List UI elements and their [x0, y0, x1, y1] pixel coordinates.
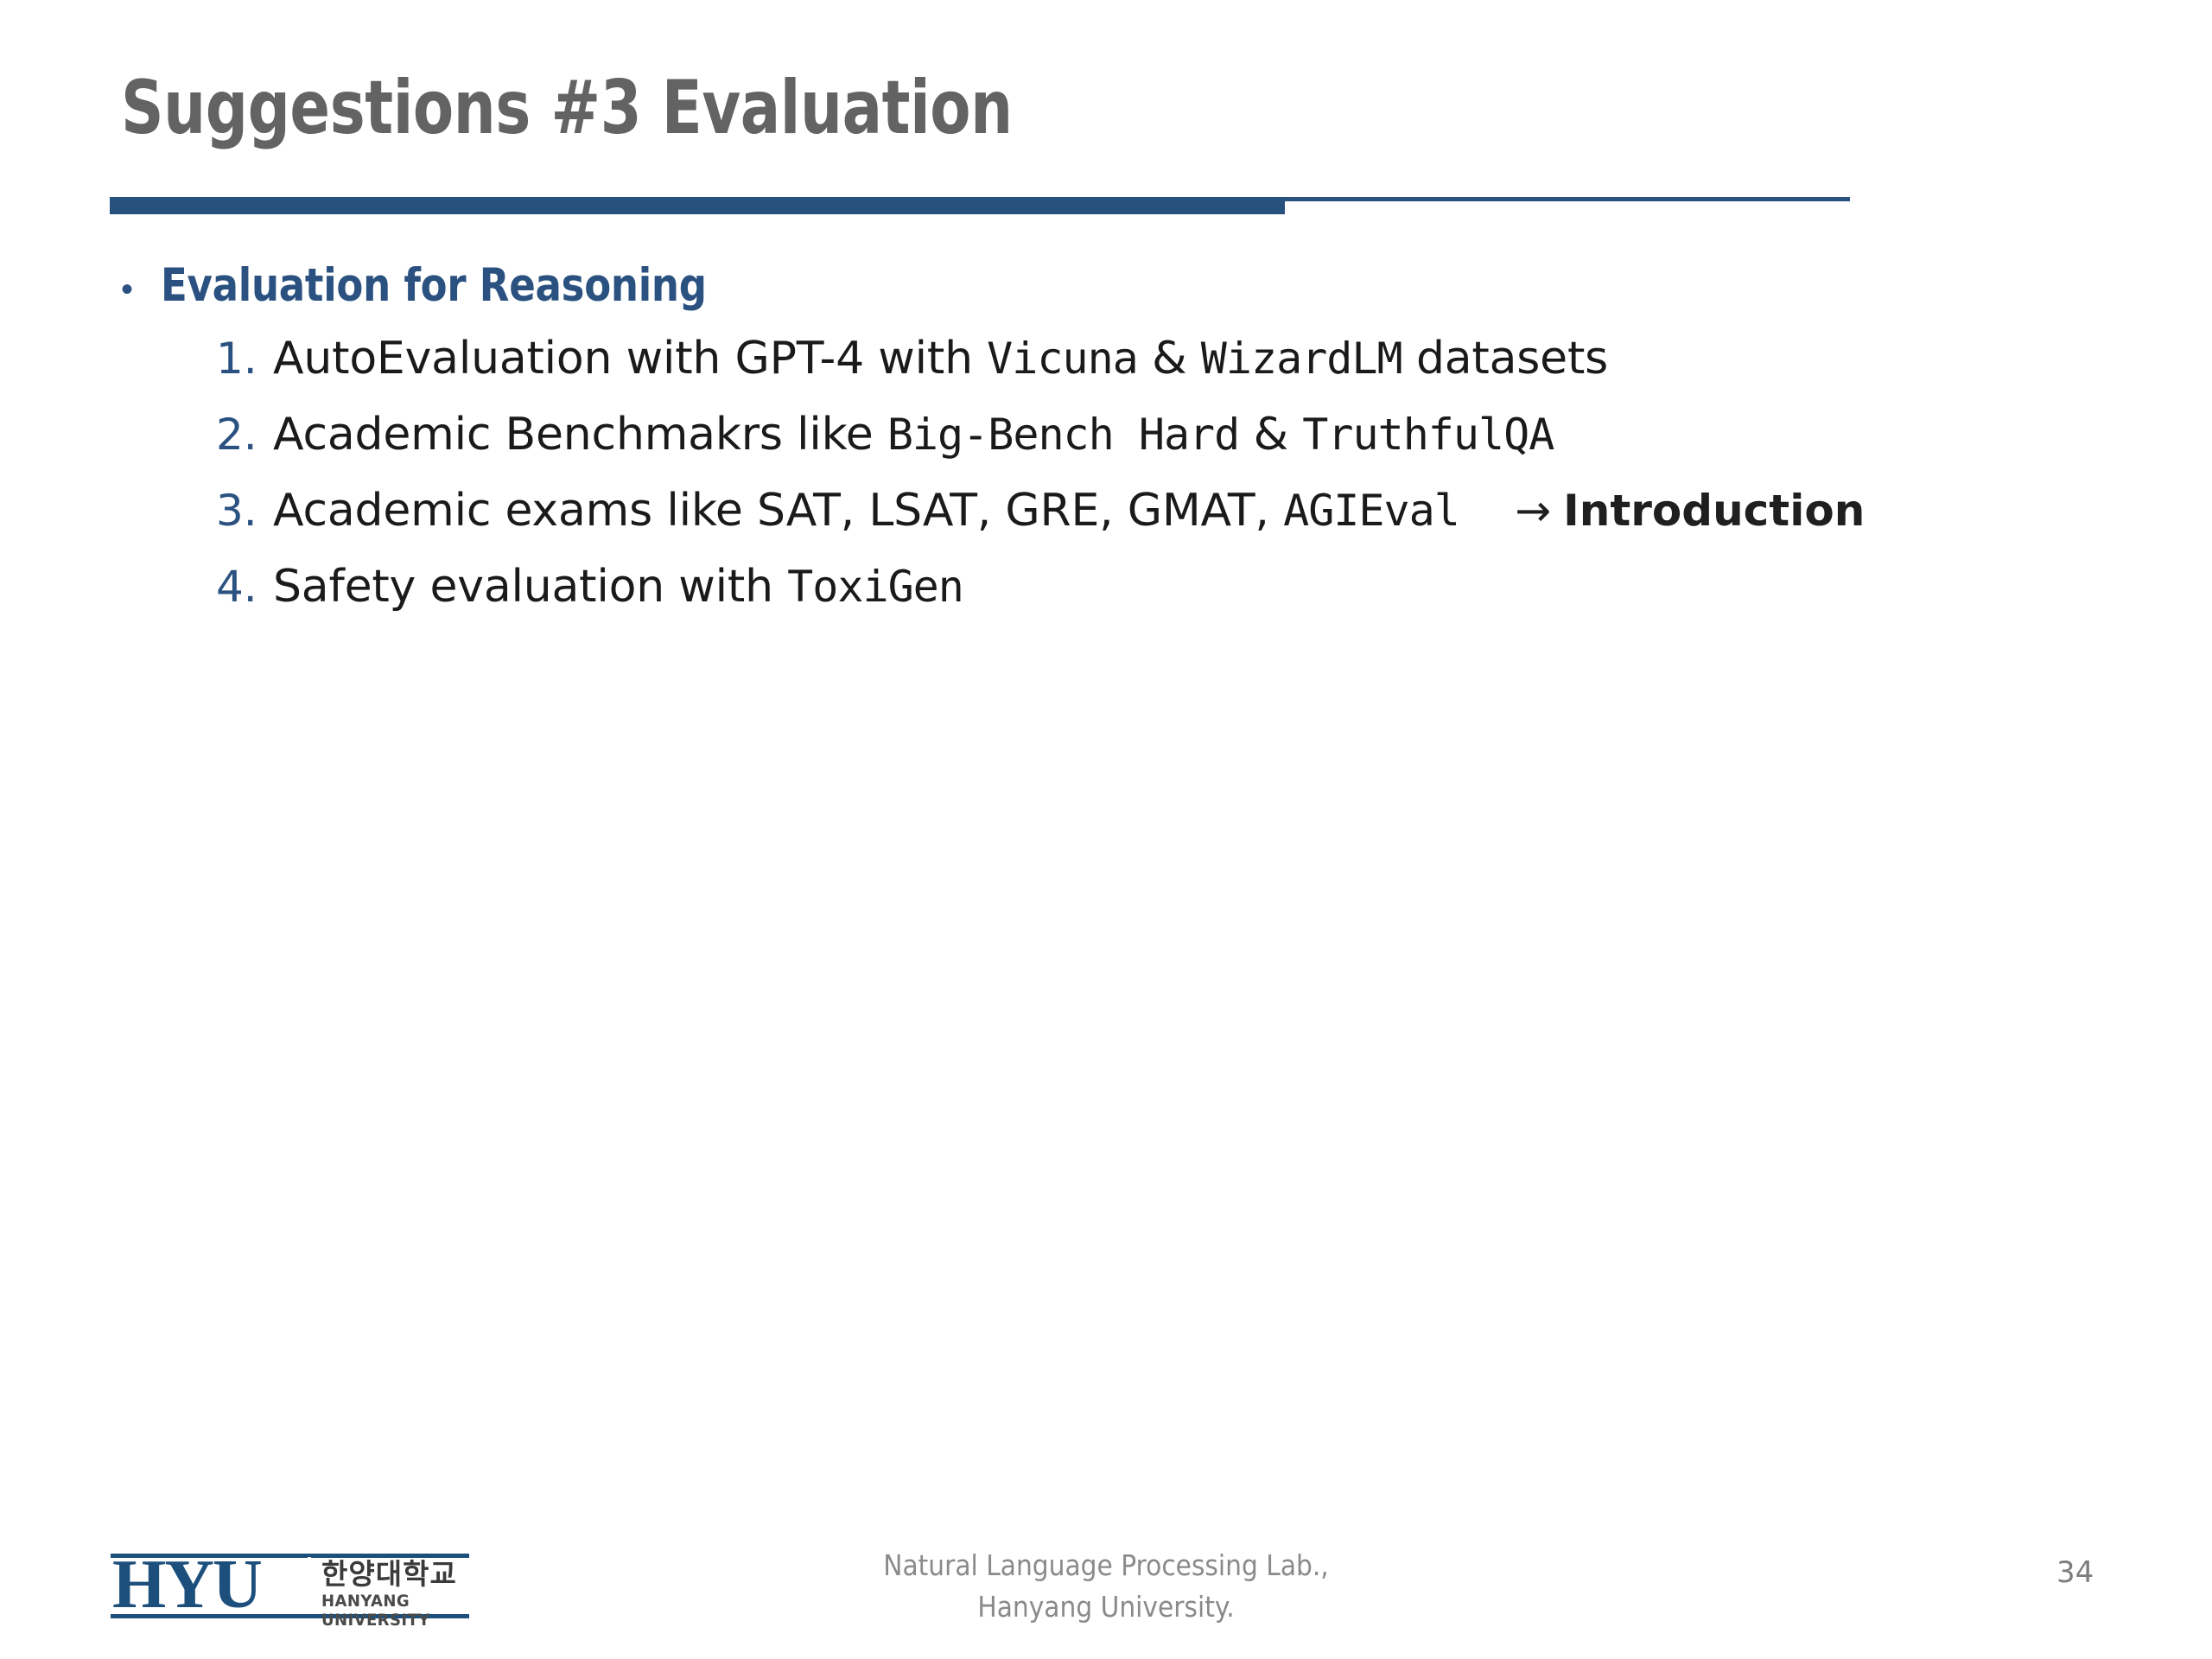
- hanyang-university-logo: HYU 한양대학교 HANYANG UNIVERSITY: [111, 1540, 469, 1628]
- list-item-body: Academic exams like SAT, LSAT, GRE, GMAT…: [273, 473, 2212, 549]
- footer-line-1: Natural Language Processing Lab.,: [810, 1545, 1402, 1586]
- list-item-subnote: →Introduction: [1463, 486, 1865, 536]
- level1-bullet-label: Evaluation for Reasoning: [161, 259, 707, 312]
- text-run: Academic Benchmakrs like: [273, 409, 887, 461]
- text-run: &: [1239, 409, 1302, 461]
- list-item-text: Academic Benchmakrs like Big-Bench Hard …: [273, 409, 1554, 461]
- list-item: 1. AutoEvaluation with GPT-4 with Vicuna…: [0, 321, 2212, 397]
- page-number: 34: [2056, 1555, 2094, 1590]
- text-run: datasets: [1402, 333, 1608, 385]
- text-run: Academic exams like SAT, LSAT, GRE, GMAT…: [273, 485, 1283, 537]
- code-token: AGIEval: [1283, 486, 1459, 536]
- footer-line-2: Hanyang University.: [810, 1586, 1402, 1628]
- slide-canvas: Suggestions #3 Evaluation • Evaluation f…: [0, 0, 2212, 1659]
- slide-content: • Evaluation for Reasoning 1. AutoEvalua…: [0, 259, 2212, 625]
- title-divider-thick-bar: [110, 197, 1285, 214]
- list-item-number: 2.: [216, 397, 273, 473]
- text-run: Safety evaluation with: [273, 561, 787, 613]
- level1-bullet-item: • Evaluation for Reasoning: [0, 259, 2212, 312]
- logo-english-name: HANYANG UNIVERSITY: [321, 1592, 461, 1630]
- code-token: TruthfulQA: [1302, 410, 1554, 460]
- list-item-number: 1.: [216, 321, 273, 397]
- list-item: 4. Safety evaluation with ToxiGen: [0, 549, 2212, 625]
- list-item: 3. Academic exams like SAT, LSAT, GRE, G…: [0, 473, 2212, 549]
- list-item-body: AutoEvaluation with GPT-4 with Vicuna & …: [273, 321, 2212, 397]
- logo-korean-name: 한양대학교: [321, 1559, 457, 1590]
- code-token: Vicuna: [987, 334, 1138, 384]
- logo-separator: [308, 1557, 311, 1614]
- code-token: Big-Bench Hard: [887, 410, 1239, 460]
- bullet-dot-icon: •: [121, 272, 161, 307]
- arrow-right-icon: →: [1515, 486, 1563, 536]
- page-title: Suggestions #3 Evaluation: [121, 69, 1013, 147]
- list-item-number: 3.: [216, 473, 273, 549]
- text-run: AutoEvaluation with GPT-4 with: [273, 333, 987, 385]
- code-token: ToxiGen: [787, 562, 963, 612]
- logo-hyu-mark: HYU: [112, 1550, 261, 1619]
- list-item-text: Academic exams like SAT, LSAT, GRE, GMAT…: [273, 485, 1459, 537]
- list-item-body: Safety evaluation with ToxiGen: [273, 549, 2212, 625]
- list-item-subnote-label: Introduction: [1563, 486, 1865, 536]
- list-item-text: Safety evaluation with ToxiGen: [273, 561, 963, 613]
- code-token: WizardLM: [1201, 334, 1402, 384]
- numbered-list: 1. AutoEvaluation with GPT-4 with Vicuna…: [0, 321, 2212, 625]
- text-run: &: [1138, 333, 1201, 385]
- list-item: 2. Academic Benchmakrs like Big-Bench Ha…: [0, 397, 2212, 473]
- list-item-text: AutoEvaluation with GPT-4 with Vicuna & …: [273, 333, 1608, 385]
- list-item-number: 4.: [216, 549, 273, 625]
- list-item-body: Academic Benchmakrs like Big-Bench Hard …: [273, 397, 2212, 473]
- footer-affiliation: Natural Language Processing Lab., Hanyan…: [810, 1545, 1402, 1628]
